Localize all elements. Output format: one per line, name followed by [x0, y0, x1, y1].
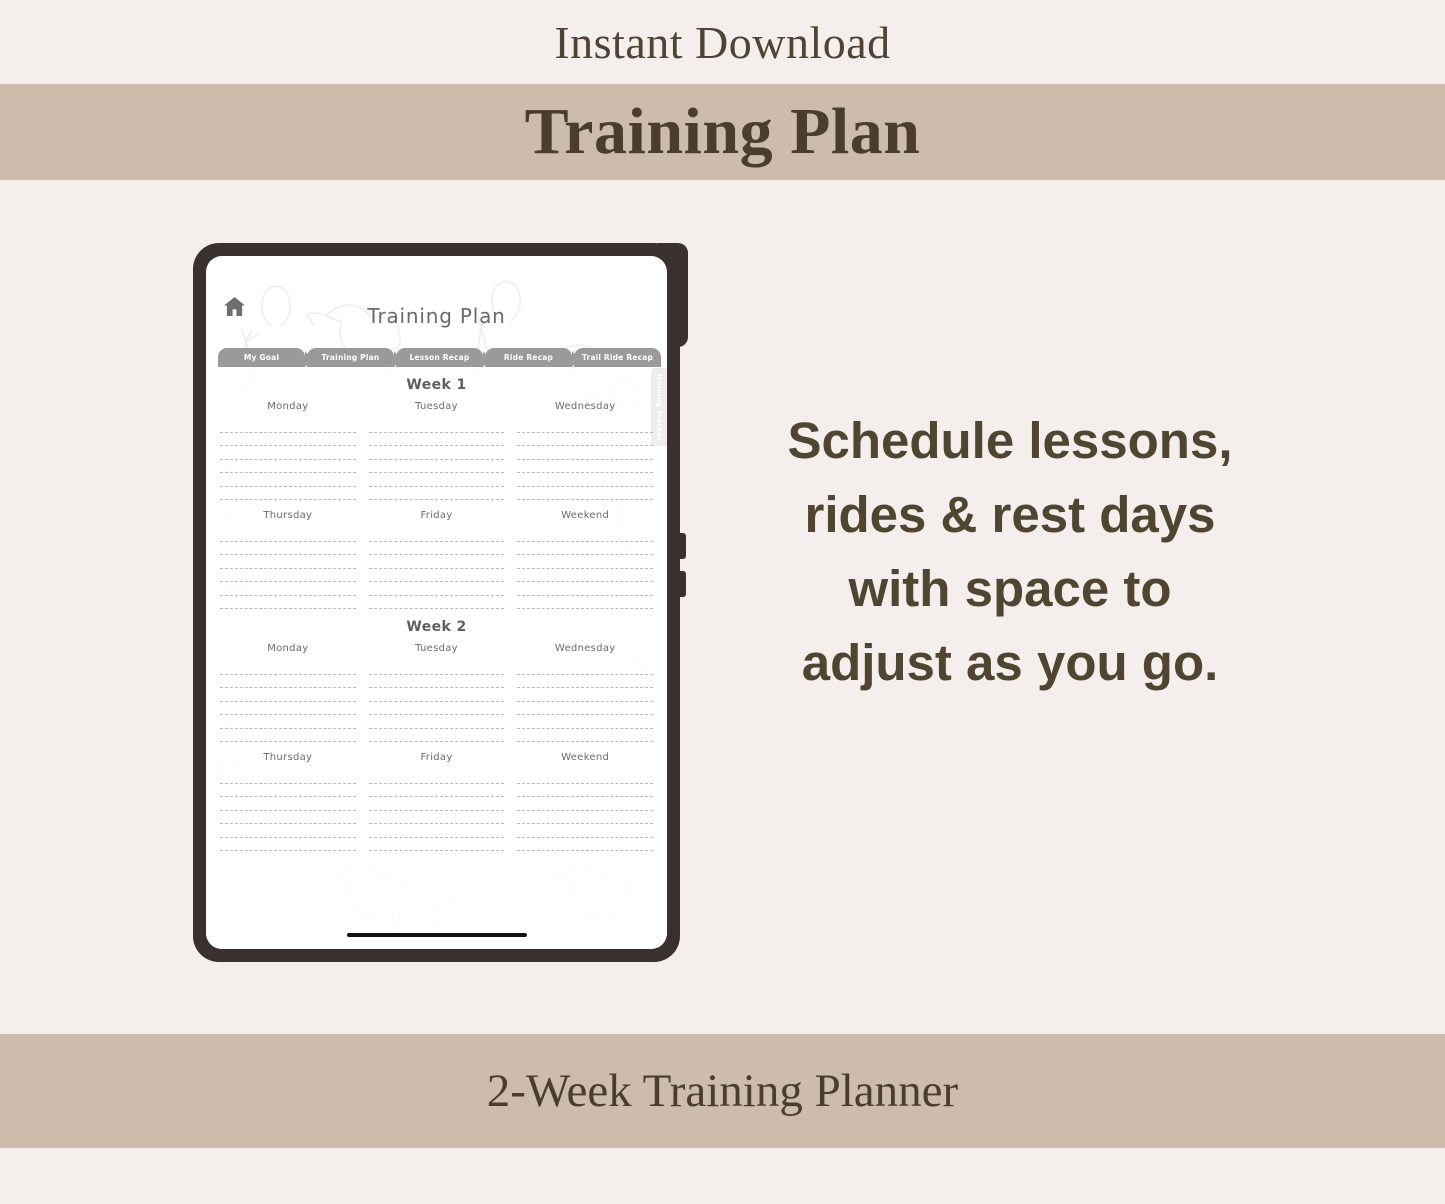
writing-line[interactable]: [517, 596, 653, 610]
writing-line[interactable]: [369, 542, 505, 556]
promo-line-3: with space to: [726, 552, 1294, 626]
writing-line[interactable]: [220, 419, 356, 433]
day-label: Tuesday: [369, 643, 505, 654]
writing-line[interactable]: [517, 569, 653, 583]
day-label: Friday: [369, 510, 505, 521]
writing-lines[interactable]: [369, 528, 505, 609]
writing-line[interactable]: [517, 838, 653, 852]
day-label: Monday: [220, 401, 356, 412]
writing-line[interactable]: [517, 542, 653, 556]
planner-title: Training Plan: [206, 304, 667, 328]
writing-line[interactable]: [517, 661, 653, 675]
writing-line[interactable]: [220, 797, 356, 811]
footer-caption-band: 2-Week Training Planner: [0, 1034, 1445, 1148]
writing-line[interactable]: [369, 675, 505, 689]
writing-line[interactable]: [369, 688, 505, 702]
week-title: Week 1: [220, 377, 653, 393]
writing-line[interactable]: [369, 596, 505, 610]
writing-line[interactable]: [220, 528, 356, 542]
writing-line[interactable]: [517, 770, 653, 784]
writing-line[interactable]: [220, 487, 356, 501]
writing-lines[interactable]: [369, 770, 505, 851]
writing-line[interactable]: [369, 811, 505, 825]
promo-line-4: adjust as you go.: [726, 626, 1294, 700]
writing-line[interactable]: [369, 715, 505, 729]
writing-line[interactable]: [220, 770, 356, 784]
day-label: Thursday: [220, 752, 356, 763]
tablet-mockup: Training Plan My Goal Training Plan Less…: [193, 243, 680, 962]
writing-line[interactable]: [369, 797, 505, 811]
writing-line[interactable]: [369, 528, 505, 542]
writing-line[interactable]: [369, 433, 505, 447]
volume-up-button[interactable]: [678, 533, 686, 559]
writing-lines[interactable]: [517, 528, 653, 609]
writing-line[interactable]: [220, 433, 356, 447]
writing-lines[interactable]: [220, 528, 356, 609]
writing-line[interactable]: [369, 729, 505, 743]
day-cell-weekend: Weekend: [517, 510, 653, 609]
writing-line[interactable]: [220, 811, 356, 825]
writing-lines[interactable]: [517, 770, 653, 851]
writing-line[interactable]: [220, 555, 356, 569]
writing-line[interactable]: [369, 487, 505, 501]
writing-line[interactable]: [369, 838, 505, 852]
writing-line[interactable]: [369, 555, 505, 569]
writing-line[interactable]: [517, 675, 653, 689]
instant-download-text: Instant Download: [554, 16, 890, 69]
writing-line[interactable]: [517, 446, 653, 460]
writing-line[interactable]: [369, 702, 505, 716]
day-cell-friday: Friday: [369, 752, 505, 851]
tablet-screen: Training Plan My Goal Training Plan Less…: [206, 256, 667, 949]
writing-line[interactable]: [369, 460, 505, 474]
writing-line[interactable]: [220, 569, 356, 583]
week-title: Week 2: [220, 619, 653, 635]
writing-line[interactable]: [369, 824, 505, 838]
day-cell-friday: Friday: [369, 510, 505, 609]
writing-line[interactable]: [220, 460, 356, 474]
writing-line[interactable]: [220, 661, 356, 675]
writing-line[interactable]: [369, 569, 505, 583]
writing-line[interactable]: [369, 582, 505, 596]
writing-line[interactable]: [220, 446, 356, 460]
writing-line[interactable]: [220, 729, 356, 743]
promo-text: Schedule lessons, rides & rest days with…: [726, 404, 1294, 700]
promo-line-2: rides & rest days: [726, 478, 1294, 552]
week-block: Week 2 Monday Tuesday Wednesday: [220, 619, 653, 851]
writing-line[interactable]: [517, 528, 653, 542]
writing-line[interactable]: [369, 784, 505, 798]
day-row: Monday Tuesday Wednesday: [220, 643, 653, 742]
day-row: Thursday Friday Weekend: [220, 752, 653, 851]
writing-line[interactable]: [220, 473, 356, 487]
day-label: Weekend: [517, 510, 653, 521]
writing-line[interactable]: [220, 542, 356, 556]
planner-tab-strip: My Goal Training Plan Lesson Recap Ride …: [218, 348, 661, 367]
writing-line[interactable]: [220, 715, 356, 729]
writing-line[interactable]: [517, 555, 653, 569]
writing-line[interactable]: [517, 473, 653, 487]
promo-line-1: Schedule lessons,: [726, 404, 1294, 478]
tab-ride-recap[interactable]: Ride Recap: [485, 348, 572, 367]
writing-line[interactable]: [220, 784, 356, 798]
writing-lines[interactable]: [220, 770, 356, 851]
writing-line[interactable]: [220, 582, 356, 596]
writing-lines[interactable]: [517, 419, 653, 500]
writing-lines[interactable]: [369, 661, 505, 742]
day-label: Wednesday: [517, 643, 653, 654]
planner-page-header: Training Plan: [206, 256, 667, 356]
day-cell-weekend: Weekend: [517, 752, 653, 851]
day-cell-thursday: Thursday: [220, 510, 356, 609]
footer-caption: 2-Week Training Planner: [487, 1064, 958, 1118]
tab-trail-ride-recap[interactable]: Trail Ride Recap: [574, 348, 661, 367]
day-label: Wednesday: [517, 401, 653, 412]
writing-line[interactable]: [517, 811, 653, 825]
writing-line[interactable]: [517, 784, 653, 798]
writing-line[interactable]: [517, 688, 653, 702]
tab-my-goal[interactable]: My Goal: [218, 348, 305, 367]
day-label: Friday: [369, 752, 505, 763]
day-cell-monday: Monday: [220, 643, 356, 742]
day-row: Thursday Friday Weekend: [220, 510, 653, 609]
writing-lines[interactable]: [220, 661, 356, 742]
tab-training-plan[interactable]: Training Plan: [307, 348, 394, 367]
writing-line[interactable]: [517, 702, 653, 716]
volume-down-button[interactable]: [678, 571, 686, 597]
writing-lines[interactable]: [517, 661, 653, 742]
home-indicator: [347, 933, 527, 937]
day-cell-wednesday: Wednesday: [517, 401, 653, 500]
writing-line[interactable]: [220, 596, 356, 610]
writing-line[interactable]: [369, 770, 505, 784]
writing-line[interactable]: [517, 715, 653, 729]
day-row: Monday Tuesday Wednesday: [220, 401, 653, 500]
day-cell-tuesday: Tuesday: [369, 401, 505, 500]
day-cell-monday: Monday: [220, 401, 356, 500]
writing-lines[interactable]: [220, 419, 356, 500]
writing-line[interactable]: [369, 446, 505, 460]
day-label: Tuesday: [369, 401, 505, 412]
day-cell-wednesday: Wednesday: [517, 643, 653, 742]
main-title-band: Training Plan: [0, 84, 1445, 180]
writing-line[interactable]: [220, 675, 356, 689]
writing-line[interactable]: [517, 419, 653, 433]
planner-body: Week 1 Monday Tuesday Wednesday: [206, 367, 667, 949]
day-cell-thursday: Thursday: [220, 752, 356, 851]
day-cell-tuesday: Tuesday: [369, 643, 505, 742]
writing-line[interactable]: [220, 838, 356, 852]
writing-line[interactable]: [220, 688, 356, 702]
page-title: Training Plan: [525, 94, 921, 170]
day-label: Weekend: [517, 752, 653, 763]
day-label: Thursday: [220, 510, 356, 521]
writing-lines[interactable]: [369, 419, 505, 500]
writing-line[interactable]: [517, 582, 653, 596]
instant-download-banner: Instant Download: [0, 0, 1445, 84]
writing-line[interactable]: [517, 797, 653, 811]
writing-line[interactable]: [220, 824, 356, 838]
writing-line[interactable]: [517, 487, 653, 501]
writing-line[interactable]: [369, 661, 505, 675]
writing-line[interactable]: [517, 824, 653, 838]
day-label: Monday: [220, 643, 356, 654]
week-block: Week 1 Monday Tuesday Wednesday: [220, 377, 653, 609]
writing-line[interactable]: [517, 433, 653, 447]
writing-line[interactable]: [369, 419, 505, 433]
writing-line[interactable]: [220, 702, 356, 716]
writing-line[interactable]: [369, 473, 505, 487]
writing-line[interactable]: [517, 460, 653, 474]
tab-lesson-recap[interactable]: Lesson Recap: [396, 348, 483, 367]
writing-line[interactable]: [517, 729, 653, 743]
